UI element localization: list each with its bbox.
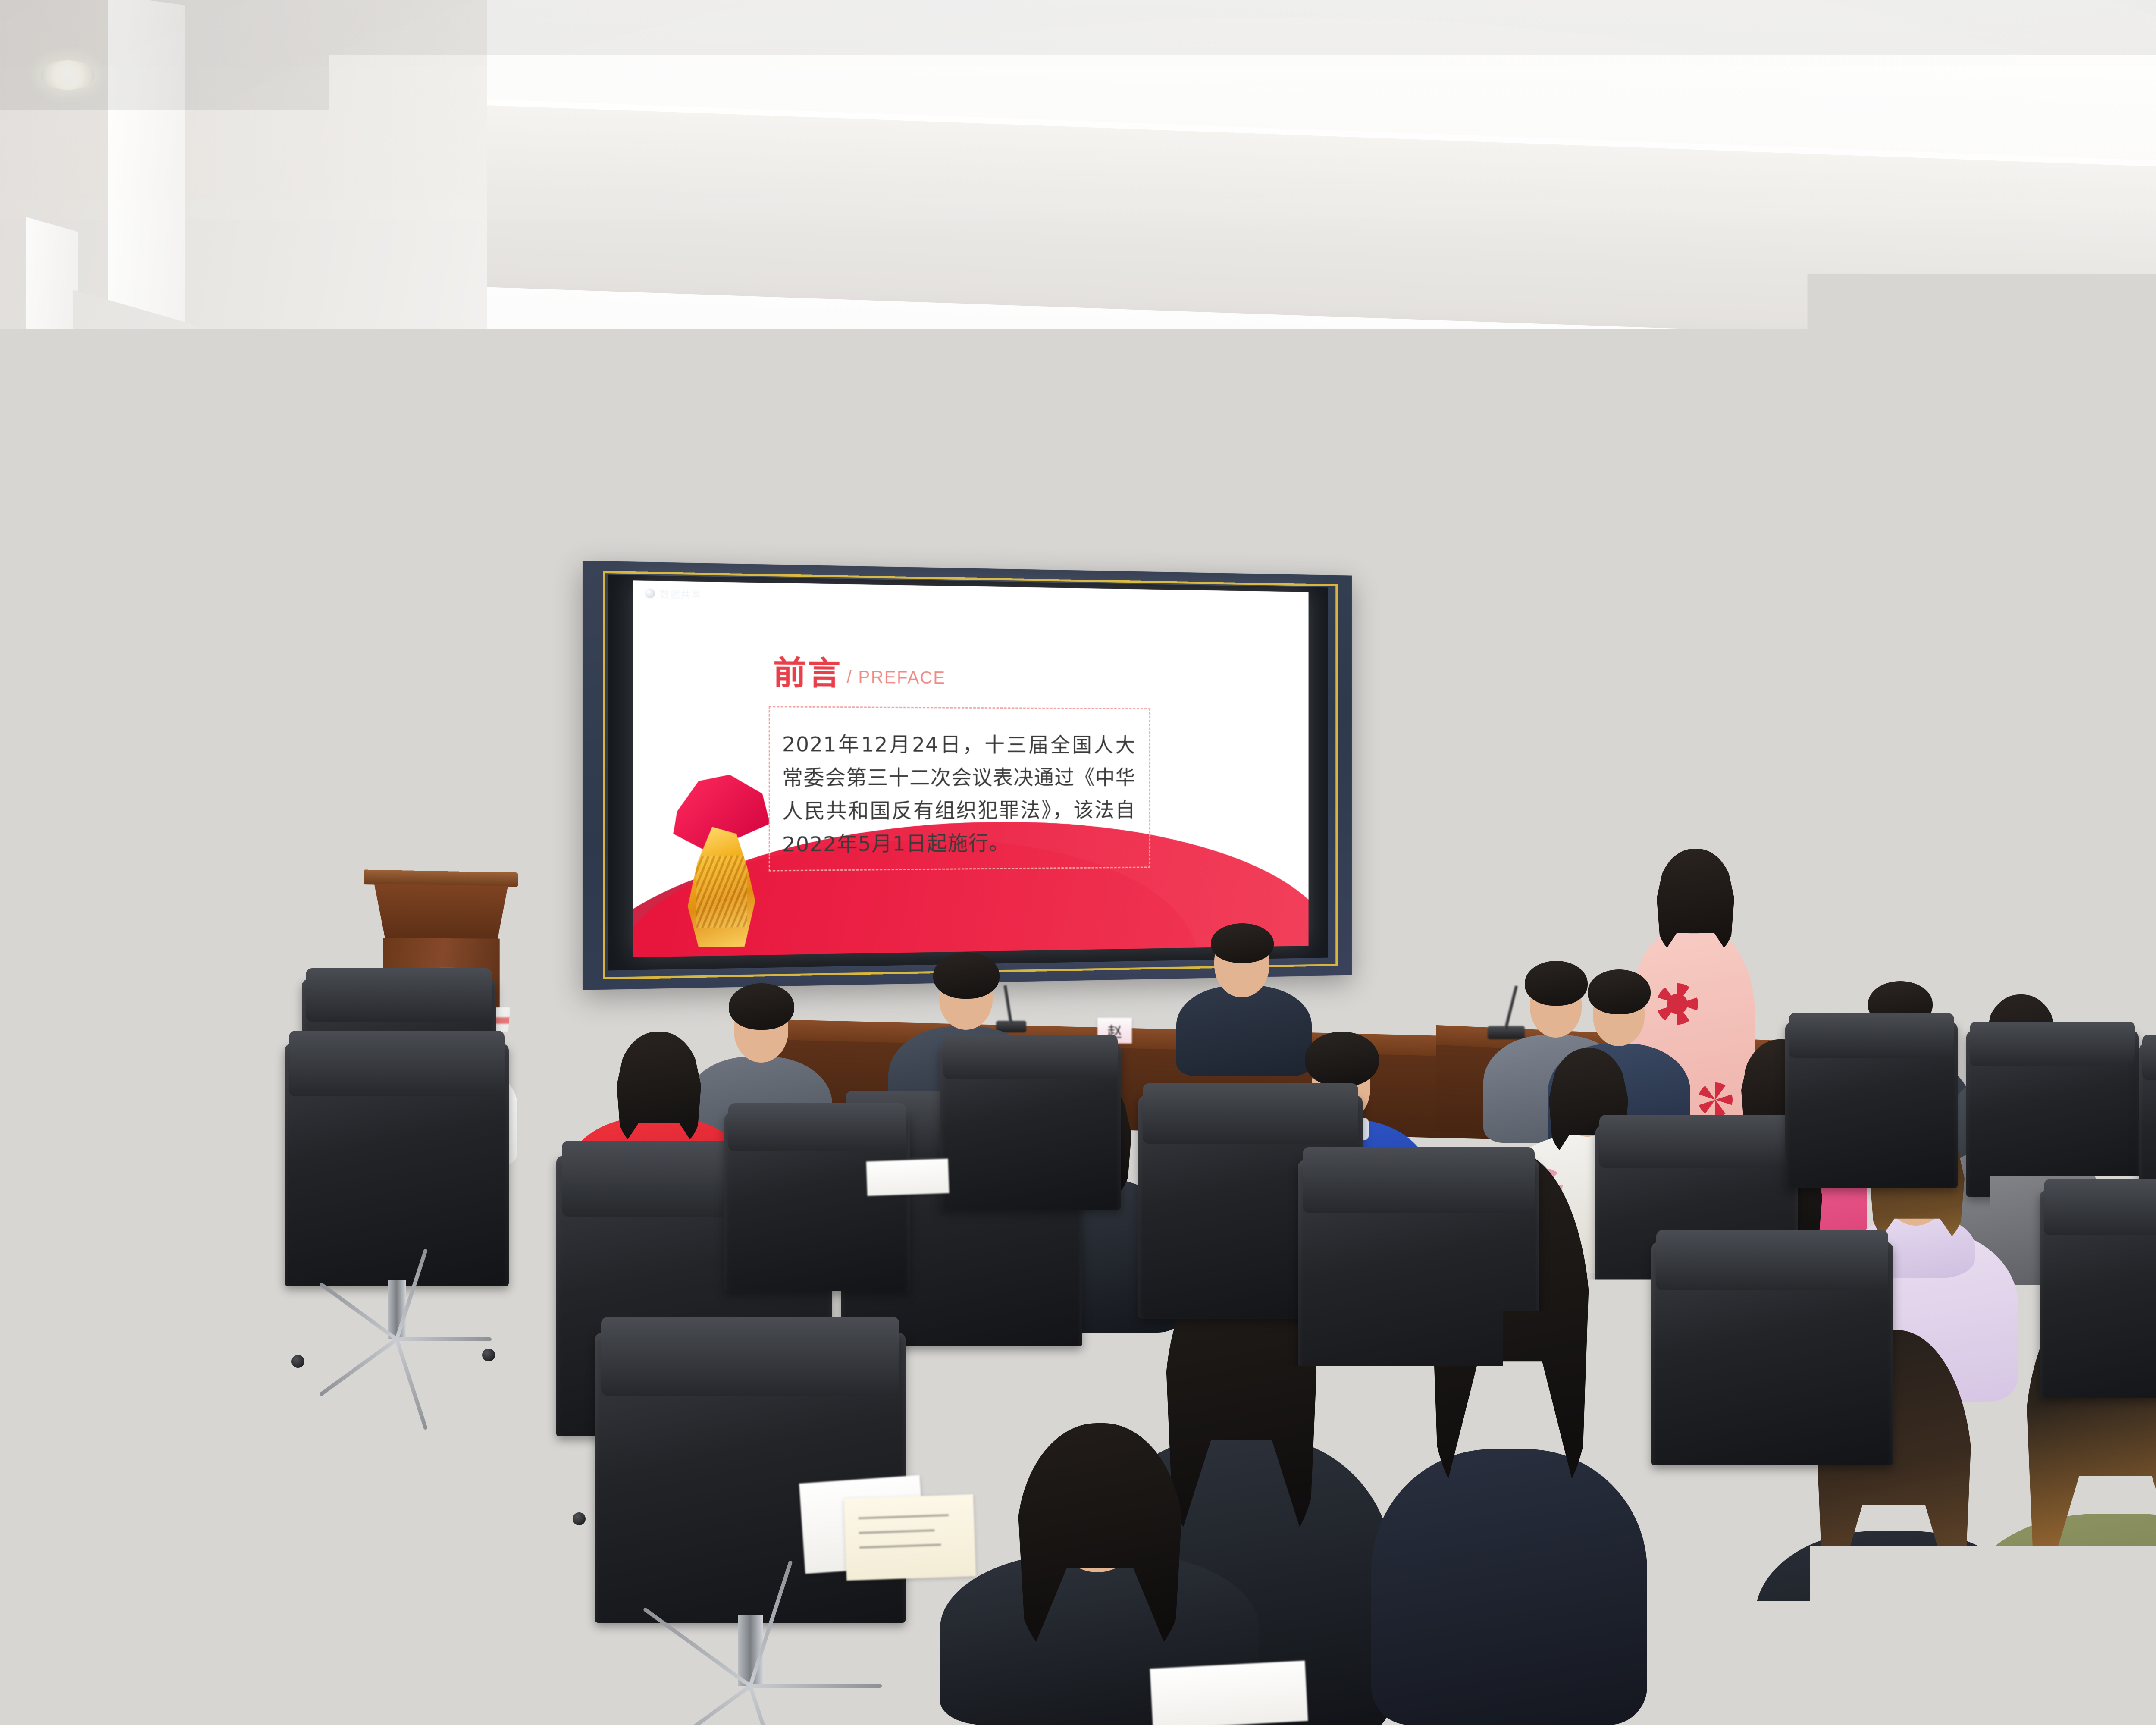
conference-room-photo: 数据共享 前言 / PREFACE 2021年12月24日，十三届全国人大常委会…: [0, 0, 2156, 1725]
office-chair-14[interactable]: [724, 1113, 910, 1354]
office-chair-16[interactable]: [2040, 1190, 2156, 1471]
downlight-2: [272, 390, 313, 414]
papers-bottom: [1150, 1661, 1308, 1725]
ceiling-vent: [379, 379, 479, 402]
open-notebook: [844, 1494, 976, 1581]
downlight-1: [41, 60, 95, 90]
slide-title-cn: 前言: [773, 657, 842, 690]
downlight-3: [332, 438, 369, 458]
notebook-right: [2103, 1618, 2156, 1724]
wall-speaker-right: [1378, 684, 1416, 856]
slide-body-text: 2021年12月24日，十三届全国人大常委会第三十二次会议表决通过《中华人民共和…: [782, 728, 1135, 862]
office-chair-12[interactable]: [1651, 1242, 1893, 1544]
slide-watermark: 数据共享: [641, 584, 708, 603]
downlight-4: [834, 337, 874, 360]
wall-speaker-left: [492, 655, 539, 858]
slide-monument-graphic: [669, 775, 772, 947]
slide-title-en: / PREFACE: [847, 668, 946, 690]
downlight-5: [1285, 382, 1323, 403]
office-chair-7[interactable]: [1298, 1160, 1539, 1488]
thermos-flask: [34, 1496, 87, 1682]
papers-bottom-right: [1792, 1652, 1938, 1725]
watermark-logo-icon: [645, 588, 655, 598]
office-chair-9[interactable]: [1785, 1022, 1958, 1246]
window-transom-right: [1941, 569, 2156, 746]
office-chair-3[interactable]: [285, 1044, 509, 1371]
slide-title: 前言 / PREFACE: [773, 657, 946, 690]
office-chair-15[interactable]: [940, 1044, 1121, 1268]
papers-table-center: [866, 1159, 950, 1196]
window-transom-left: [1556, 690, 1806, 832]
presentation-slide: 数据共享 前言 / PREFACE 2021年12月24日，十三届全国人大常委会…: [633, 580, 1308, 957]
watermark-label: 数据共享: [660, 586, 702, 601]
